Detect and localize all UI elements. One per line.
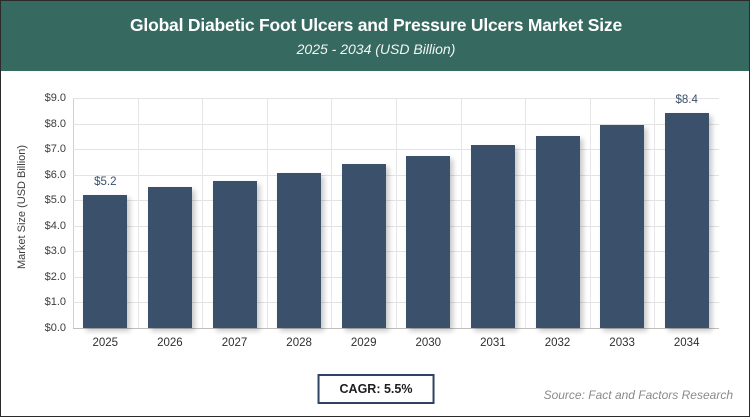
- bar-2033: [600, 125, 644, 328]
- bar-2030: [406, 156, 450, 329]
- y-axis-tick-label: $3.0: [45, 245, 66, 257]
- bar-2029: [342, 164, 386, 328]
- gridline-vertical: [461, 98, 462, 328]
- x-axis-tick-label-2034: 2034: [674, 337, 700, 349]
- bar-2025: [83, 195, 127, 328]
- x-axis-tick-label-2025: 2025: [93, 337, 119, 349]
- x-axis-tick-label-2030: 2030: [416, 337, 442, 349]
- page-title: Global Diabetic Foot Ulcers and Pressure…: [130, 15, 622, 35]
- y-axis-tick-label: $1.0: [45, 296, 66, 308]
- gridline-vertical: [331, 98, 332, 328]
- bar-2026: [148, 187, 192, 328]
- bar-2034: [665, 113, 709, 328]
- gridline-vertical: [590, 98, 591, 328]
- bar-2027: [213, 181, 257, 328]
- y-axis-tick-label: $6.0: [45, 169, 66, 181]
- bar-value-label-2025: $5.2: [94, 176, 116, 188]
- gridline-vertical: [525, 98, 526, 328]
- y-axis-tick-label: $5.0: [45, 194, 66, 206]
- x-axis-tick-label-2029: 2029: [351, 337, 377, 349]
- source-attribution: Source: Fact and Factors Research: [544, 388, 733, 402]
- y-axis-tick-label: $8.0: [45, 118, 66, 130]
- bar-value-label-2034: $8.4: [675, 94, 697, 106]
- y-axis-line: [73, 98, 74, 328]
- y-axis-tick-label: $7.0: [45, 143, 66, 155]
- y-axis-tick-label: $2.0: [45, 271, 66, 283]
- bar-2028: [277, 173, 321, 328]
- page-subtitle: 2025 - 2034 (USD Billion): [297, 41, 456, 57]
- y-axis-tick-label: $0.0: [45, 322, 66, 334]
- y-axis-tick-label: $9.0: [45, 92, 66, 104]
- x-axis-tick-label-2028: 2028: [286, 337, 312, 349]
- gridline-vertical: [138, 98, 139, 328]
- gridline-horizontal: [73, 328, 719, 329]
- x-axis-tick-label-2026: 2026: [157, 337, 183, 349]
- gridline-vertical: [267, 98, 268, 328]
- chart-body: Market Size (USD Billion) $0.0$1.0$2.0$3…: [1, 71, 750, 417]
- gridline-vertical: [654, 98, 655, 328]
- plot-area: $0.0$1.0$2.0$3.0$4.0$5.0$6.0$7.0$8.0$9.0…: [73, 98, 719, 328]
- bar-2031: [471, 145, 515, 328]
- x-axis-tick-label-2031: 2031: [480, 337, 506, 349]
- x-axis-tick-label-2032: 2032: [545, 337, 571, 349]
- y-axis-tick-label: $4.0: [45, 220, 66, 232]
- bar-2032: [536, 136, 580, 328]
- gridline-vertical: [396, 98, 397, 328]
- chart-header: Global Diabetic Foot Ulcers and Pressure…: [1, 1, 750, 71]
- x-axis-tick-label-2033: 2033: [609, 337, 635, 349]
- y-axis-title: Market Size (USD Billion): [16, 122, 28, 292]
- cagr-badge: CAGR: 5.5%: [318, 374, 435, 404]
- gridline-vertical: [202, 98, 203, 328]
- chart-screenshot: Global Diabetic Foot Ulcers and Pressure…: [0, 0, 750, 417]
- x-axis-tick-label-2027: 2027: [222, 337, 248, 349]
